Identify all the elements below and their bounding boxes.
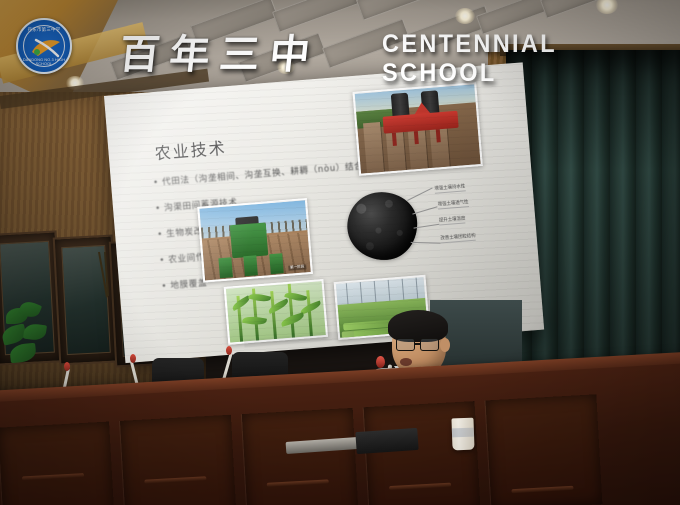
planter-unit [269,253,284,274]
callout-label: 增强土壤持水性 [434,183,465,193]
desk-panel [241,408,359,505]
notebook-on-desk [355,428,418,454]
door-glass [61,245,111,355]
callout-label: 增强土壤透气性 [438,199,469,209]
header-title-en: CENTENNIAL SCHOOL [382,30,662,88]
logo-swoosh-icon [30,36,62,58]
planter-unit [244,255,259,276]
cup-print-band [452,428,474,438]
slide-photo-green-planter: 第一阶段 [197,198,313,283]
desk-panel [0,422,115,505]
desk-panel [119,415,237,505]
eyeglass-lens [396,338,415,351]
planter-unit [218,257,233,278]
school-logo: 丹东市第三中学 DANDONG NO.3 HIGH SCHOOL [16,18,72,74]
paper-coffee-cup [451,418,474,451]
header-overlay: 丹东市第三中学 DANDONG NO.3 HIGH SCHOOL 百年三中 CE… [0,0,680,92]
callout-leader-line [411,242,441,244]
tractor-body [229,222,268,258]
microphone-head [226,346,232,355]
microphone-head [376,356,385,368]
logo-bottom-text: DANDONG NO.3 HIGH SCHOOL [18,58,70,66]
eyeglass-lens [420,338,439,351]
presenter-mouth [400,358,412,366]
callout-leader-line [407,188,432,201]
desk-panel [363,401,481,505]
header-title-cn: 百年三中 [117,22,323,80]
microphone-head [64,362,70,371]
plant-leaf [23,323,47,342]
plant-leaf [9,343,37,364]
slide-title: 农业技术 [154,134,228,164]
callout-label: 提升土壤温度 [439,215,466,225]
callout-label: 改善土壤团粒结构 [440,233,476,244]
potted-plant [2,300,64,370]
callout-leader-line [412,206,437,214]
logo-top-text: 丹东市第三中学 [18,27,70,33]
photo-scene: 农业技术 • 代田法（沟垄相间、沟垄互换、耕耨（nòu）结合） • 沟渠田间蓄源… [0,0,680,505]
eyeglass-bridge [414,343,421,345]
microphone-head [130,354,136,363]
slide-photo-red-implement [352,82,482,176]
presenter-ear [440,338,450,352]
callout-leader-line [414,224,440,229]
